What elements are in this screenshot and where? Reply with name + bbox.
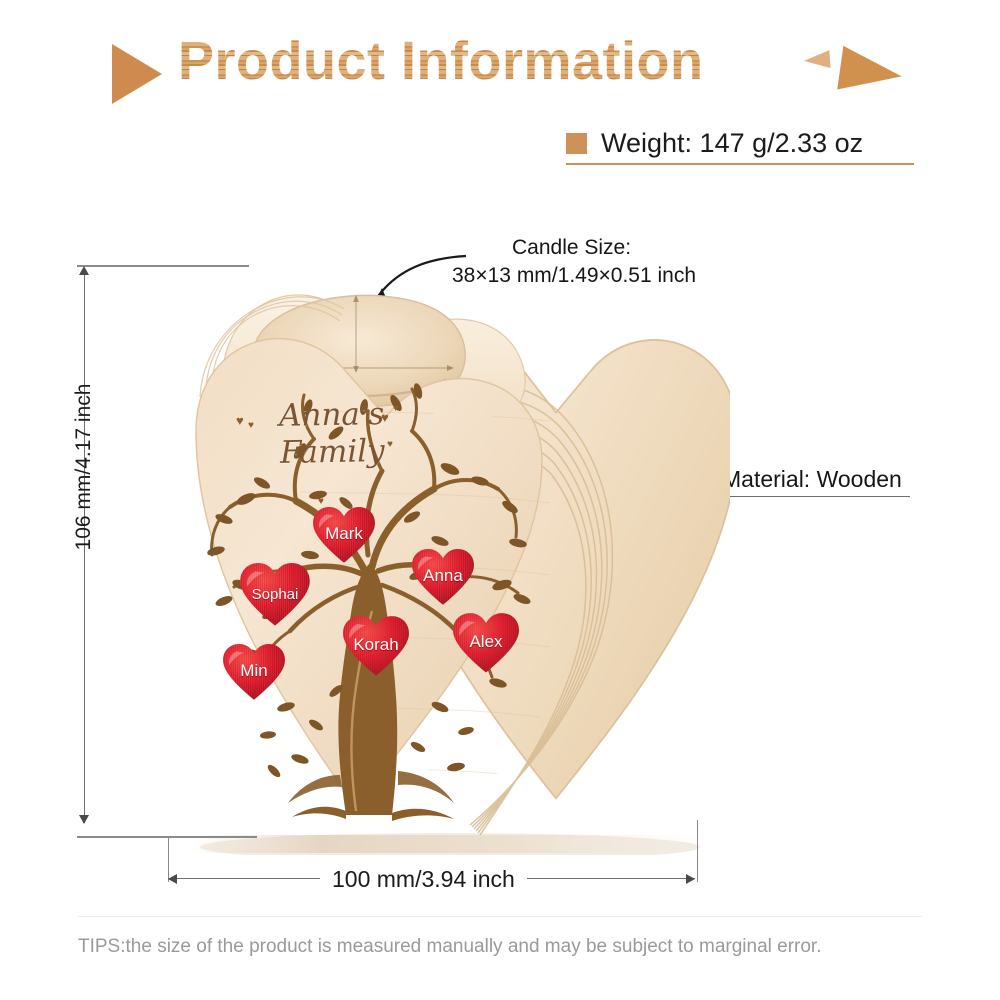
arrow-right-icon — [686, 874, 695, 884]
dimension-extension-bottom — [77, 836, 257, 838]
dimension-extension-right — [697, 820, 698, 882]
weight-text: Weight: 147 g/2.33 oz — [601, 128, 863, 159]
weight-spec: Weight: 147 g/2.33 oz — [566, 128, 863, 159]
product-information-page: Product Information Product Information … — [0, 0, 1000, 1000]
dimension-extension-top — [77, 265, 249, 267]
page-title: Product Information — [178, 34, 703, 88]
triangle-right-icon — [112, 44, 162, 104]
product-image — [150, 255, 730, 855]
footer-divider — [78, 916, 922, 917]
width-dimension-label: 100 mm/3.94 inch — [320, 866, 527, 893]
weight-underline — [566, 163, 914, 165]
box-front-face — [196, 339, 550, 821]
square-bullet-icon — [566, 133, 587, 154]
arrow-down-icon — [79, 815, 89, 824]
arrow-left-icon — [168, 874, 177, 884]
height-dimension-label: 106 mm/4.17 inch — [72, 357, 96, 577]
arrow-up-icon — [79, 266, 89, 275]
triangle-right-large-icon — [837, 46, 905, 98]
triangle-left-small-icon — [803, 50, 830, 70]
footer-tip-text: TIPS:the size of the product is measured… — [78, 936, 821, 958]
material-text: Material: Wooden — [722, 466, 902, 493]
